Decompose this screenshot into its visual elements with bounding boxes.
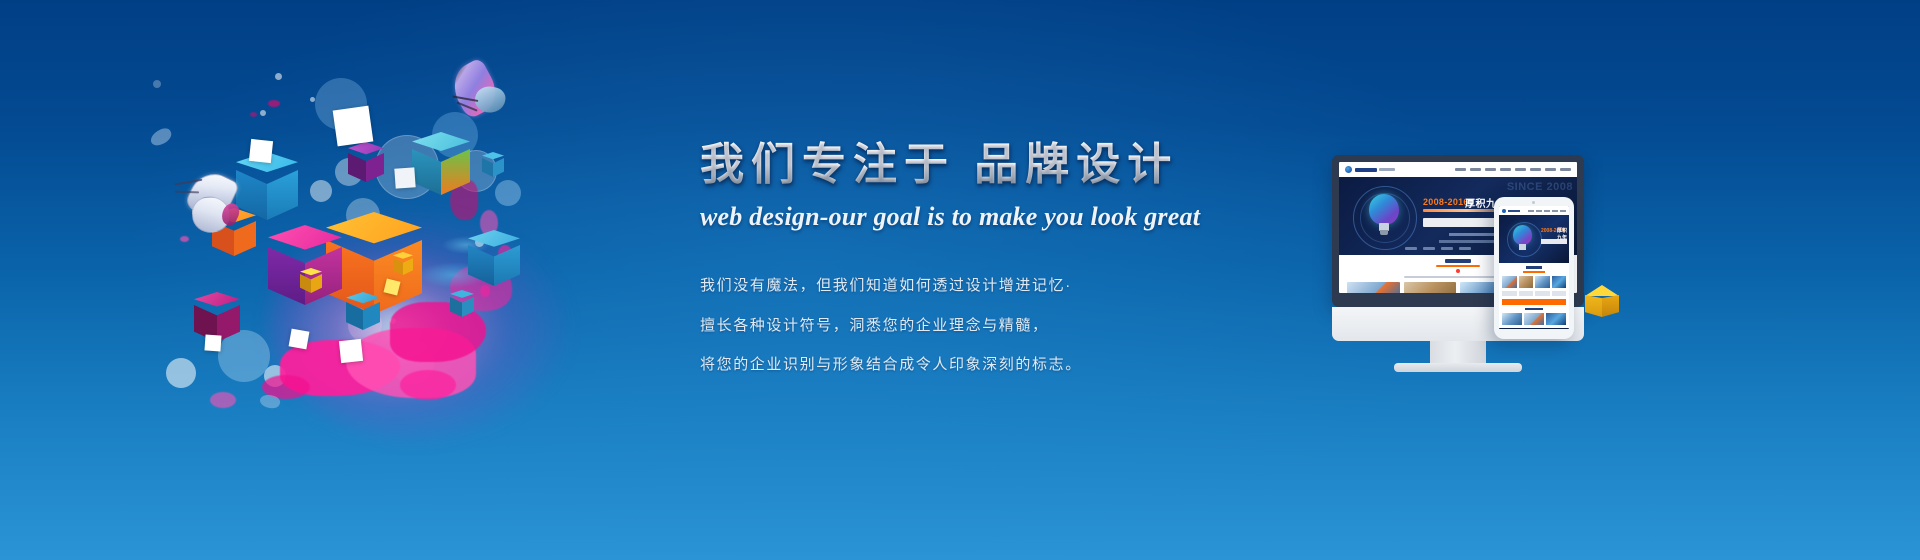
nav-item (1536, 210, 1542, 212)
silver-butterfly-icon (168, 165, 248, 236)
bokeh-dot (260, 110, 266, 116)
hero-description: 我们没有魔法，但我们知道如何透过设计增进记忆· 擅长各种设计符号，洞悉您的企业理… (700, 276, 1260, 375)
paint-splatter (268, 100, 280, 107)
bokeh-dot (310, 97, 315, 102)
hero-text-block: 我们专注于 品牌设计 web design-our goal is to mak… (700, 140, 1260, 394)
page-subtitle: web design-our goal is to make you look … (700, 202, 1260, 232)
phone-site-header (1499, 206, 1569, 215)
bokeh-circle (166, 358, 196, 388)
site-hero-year: 2008-2016 (1423, 197, 1469, 207)
phone-site-logo-icon (1502, 209, 1506, 213)
purple-butterfly-icon (444, 56, 522, 134)
floating-square (204, 334, 221, 351)
phone-content-section (1499, 263, 1569, 328)
gold-cube-top-face (1585, 285, 1619, 296)
phone-screen: 2008-2016 厚积九年 (1499, 206, 1569, 329)
site-logo-icon (1345, 166, 1352, 173)
phone-hero-banner: 2008-2016 厚积九年 (1499, 215, 1569, 263)
cube-tiny (450, 290, 474, 318)
paint-splatter (250, 112, 257, 117)
caption-mark (1519, 291, 1534, 296)
phone-site-brand-mark (1508, 210, 1520, 212)
nav-item (1560, 168, 1571, 171)
bokeh-circle (495, 180, 521, 206)
cube-cyan-right (468, 230, 520, 288)
thumbnail-item[interactable] (1404, 282, 1457, 293)
floating-square (339, 339, 363, 363)
cube-tiny (482, 152, 504, 178)
page-title: 我们专注于 品牌设计 (700, 140, 1260, 189)
cube-tiny (300, 268, 322, 294)
nav-item (1545, 168, 1556, 171)
thumbnail-item[interactable] (1552, 276, 1567, 288)
paint-splatter (210, 392, 236, 408)
nav-item (1530, 168, 1541, 171)
phone-site-nav (1528, 210, 1566, 212)
thumbnail-item[interactable] (1524, 313, 1544, 325)
phone-cta-bar[interactable] (1502, 299, 1566, 305)
nav-item (1455, 168, 1466, 171)
pagination-dot[interactable] (1423, 247, 1435, 250)
bulb-glass (1369, 194, 1399, 225)
site-header (1339, 162, 1577, 177)
thumbnail-item[interactable] (1546, 313, 1566, 325)
phone-section-divider-mark (1525, 308, 1543, 310)
pagination-dot[interactable] (1441, 247, 1453, 250)
phone-caption-row (1502, 291, 1566, 296)
phone-lightbulb-icon (1507, 222, 1537, 255)
nav-item (1485, 168, 1496, 171)
phone-camera-icon (1532, 201, 1535, 204)
hero-banner: 我们专注于 品牌设计 web design-our goal is to mak… (0, 0, 1920, 560)
site-brand-mark (1355, 168, 1377, 172)
pagination-dot[interactable] (1459, 247, 1471, 250)
phone-section-title-mark (1526, 266, 1542, 269)
phone-thumbnail-grid (1502, 276, 1566, 288)
site-nav (1455, 168, 1571, 171)
floating-square (289, 329, 310, 350)
bokeh-dot (153, 80, 161, 88)
bokeh-circle (310, 180, 332, 202)
thumbnail-item[interactable] (1502, 276, 1517, 288)
phone-hero-text-bar (1541, 239, 1567, 244)
bulb-cap (1380, 230, 1388, 235)
description-line: 擅长各种设计符号，洞悉您的企业理念与精髓， (700, 316, 1260, 336)
phone-lower-grid (1502, 313, 1566, 325)
thumbnail-item[interactable] (1347, 282, 1400, 293)
site-ghost-text: SINCE 2008 (1507, 181, 1573, 193)
nav-item (1552, 210, 1558, 212)
lightbulb-icon (1357, 187, 1411, 245)
gold-cube-right-face (1602, 295, 1619, 317)
bokeh-dot (275, 73, 282, 80)
paint-splatter (180, 236, 189, 242)
phone-bulb-glass (1513, 225, 1532, 245)
nav-item (1528, 210, 1534, 212)
gold-cube-left-face (1585, 295, 1602, 317)
phone-bulb-neck (1519, 244, 1526, 250)
description-line: 我们没有魔法，但我们知道如何透过设计增进记忆· (700, 276, 1260, 296)
cube-purple-small (348, 142, 384, 184)
section-title-mark (1445, 259, 1471, 263)
cube-crimson-small (346, 292, 380, 332)
nav-item (1470, 168, 1481, 171)
caption-mark (1502, 291, 1517, 296)
caption-mark (1535, 291, 1550, 296)
caption-mark (1552, 291, 1567, 296)
cube-tiny (393, 252, 413, 276)
description-line: 将您的企业识别与形象结合成令人印象深刻的标志。 (700, 355, 1260, 375)
pagination-dot[interactable] (1405, 247, 1417, 250)
site-tagline-mark (1379, 168, 1395, 171)
thumbnail-item[interactable] (1502, 313, 1522, 325)
floating-square (249, 139, 273, 163)
cube-magenta (268, 225, 342, 307)
nav-item (1515, 168, 1526, 171)
cube-teal (412, 132, 470, 198)
nav-item (1560, 210, 1566, 212)
section-accent-dot (1456, 269, 1460, 273)
mobile-phone-mockup: 2008-2016 厚积九年 (1494, 197, 1574, 339)
nav-item (1544, 210, 1550, 212)
floating-square (333, 106, 374, 147)
monitor-stand-base (1394, 363, 1522, 372)
floating-square (394, 167, 415, 188)
paint-splatter (400, 370, 456, 400)
decorative-3d-art-cluster (150, 40, 620, 460)
device-mockups: SINCE 2008 2008-2016 厚积九年 (1320, 155, 1650, 385)
site-hero-pagination[interactable] (1405, 247, 1471, 250)
petal-shape (148, 126, 174, 148)
phone-section-subtitle-mark (1523, 271, 1545, 273)
thumbnail-item[interactable] (1535, 276, 1550, 288)
nav-item (1500, 168, 1511, 171)
gold-cube-decoration (1585, 285, 1619, 321)
section-subtitle-mark (1436, 265, 1480, 267)
thumbnail-item[interactable] (1519, 276, 1534, 288)
